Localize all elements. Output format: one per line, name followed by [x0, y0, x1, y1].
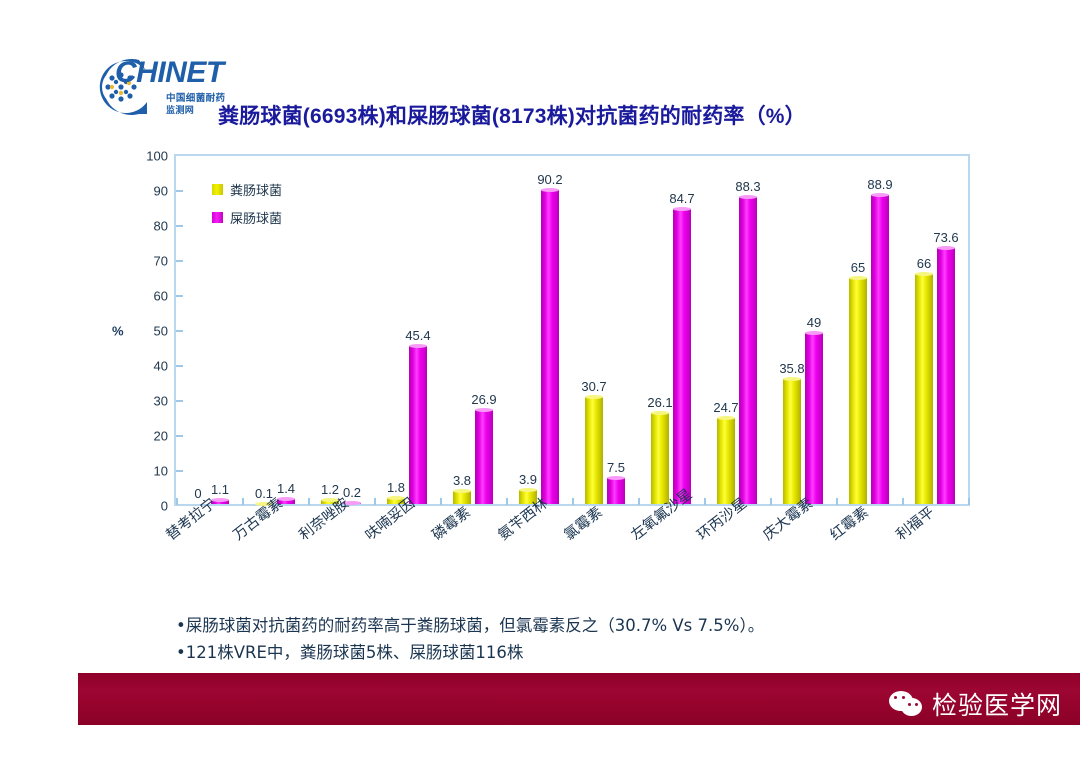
logo-cn-line1: 中国细菌耐药 — [166, 90, 225, 104]
watermark-text: 检验医学网 — [932, 686, 1062, 722]
y-tick-label: 20 — [122, 429, 168, 444]
bar-value-label: 65 — [851, 260, 865, 275]
y-tick-mark — [176, 470, 183, 472]
logo-wordmark: CHINET — [115, 56, 224, 90]
bar-value-label: 73.6 — [933, 230, 958, 245]
x-tick-mark — [176, 498, 178, 505]
y-tick-label: 40 — [122, 359, 168, 374]
bar-value-label: 1.4 — [277, 481, 295, 496]
bar-group — [638, 156, 704, 504]
wechat-icon — [889, 691, 923, 717]
bar-value-label: 1.1 — [211, 482, 229, 497]
bar-value-label: 84.7 — [669, 191, 694, 206]
y-tick-label: 80 — [122, 219, 168, 234]
bar-group — [704, 156, 770, 504]
bar-value-label: 7.5 — [607, 460, 625, 475]
watermark: 检验医学网 — [889, 686, 1062, 722]
x-category-label: 红霉素 — [825, 501, 872, 544]
bar-value-label: 24.7 — [713, 400, 738, 415]
bar-value-label: 3.8 — [453, 473, 471, 488]
y-tick-label: 60 — [122, 289, 168, 304]
page-title: 粪肠球菌(6693株)和屎肠球菌(8173株)对抗菌药的耐药率（%） — [218, 100, 918, 130]
bar-group — [572, 156, 638, 504]
bar-value-label: 49 — [807, 315, 821, 330]
y-tick-mark — [176, 365, 183, 367]
y-tick-label: 90 — [122, 184, 168, 199]
x-tick-mark — [572, 498, 574, 505]
bar-value-label: 35.8 — [779, 361, 804, 376]
bar-value-label: 90.2 — [537, 172, 562, 187]
bar-粪肠球菌 — [783, 379, 801, 504]
bar-屎肠球菌 — [739, 197, 757, 504]
x-tick-mark — [968, 498, 970, 505]
bar-group — [506, 156, 572, 504]
y-tick-mark — [176, 225, 183, 227]
bar-屎肠球菌 — [607, 478, 625, 504]
bar-屎肠球菌 — [475, 410, 493, 504]
bar-屎肠球菌 — [673, 209, 691, 504]
y-tick-label: 50 — [122, 324, 168, 339]
logo-cn-line2: 监测网 — [166, 103, 194, 116]
bullet-2: •121株VRE中，粪肠球菌5株、屎肠球菌116株 — [176, 639, 956, 666]
x-tick-mark — [638, 498, 640, 505]
y-tick-label: 70 — [122, 254, 168, 269]
x-category-label: 磷霉素 — [427, 501, 474, 544]
bar-粪肠球菌 — [585, 397, 603, 504]
bullet-1: •屎肠球菌对抗菌药的耐药率高于粪肠球菌，但氯霉素反之（30.7% Vs 7.5%… — [176, 612, 956, 639]
bar-group — [770, 156, 836, 504]
bar-value-label: 0.2 — [343, 485, 361, 500]
x-tick-mark — [506, 498, 508, 505]
chinet-logo: CHINET 中国细菌耐药 监测网 — [95, 52, 227, 126]
plot-area: 粪肠球菌屎肠球菌 01.10.11.41.20.21.845.43.826.93… — [174, 156, 970, 506]
bar-屎肠球菌 — [871, 195, 889, 504]
x-tick-mark — [770, 498, 772, 505]
bar-value-label: 88.9 — [867, 177, 892, 192]
bar-屎肠球菌 — [541, 190, 559, 504]
bar-value-label: 30.7 — [581, 379, 606, 394]
bar-value-label: 45.4 — [405, 328, 430, 343]
bar-group — [902, 156, 968, 504]
y-tick-mark — [176, 260, 183, 262]
bar-value-label: 1.8 — [387, 480, 405, 495]
bar-粪肠球菌 — [651, 413, 669, 504]
bar-chart: % 0102030405060708090100 粪肠球菌屎肠球菌 01.10.… — [112, 150, 992, 520]
bar-value-label: 3.9 — [519, 472, 537, 487]
bar-粪肠球菌 — [915, 274, 933, 504]
y-tick-mark — [176, 435, 183, 437]
x-category-label: 氯霉素 — [559, 501, 606, 544]
bar-group — [836, 156, 902, 504]
x-tick-mark — [242, 498, 244, 505]
bar-屎肠球菌 — [805, 333, 823, 504]
x-tick-mark — [308, 498, 310, 505]
bar-group — [176, 156, 242, 504]
bar-group — [440, 156, 506, 504]
y-tick-mark — [176, 400, 183, 402]
bar-value-label: 88.3 — [735, 179, 760, 194]
bar-屎肠球菌 — [409, 346, 427, 504]
x-tick-mark — [902, 498, 904, 505]
bar-group — [242, 156, 308, 504]
y-tick-mark — [176, 190, 183, 192]
y-tick-label: 100 — [122, 149, 168, 164]
bar-value-label: 26.1 — [647, 395, 672, 410]
x-tick-mark — [704, 498, 706, 505]
bar-粪肠球菌 — [849, 278, 867, 504]
y-tick-mark — [176, 330, 183, 332]
x-tick-mark — [836, 498, 838, 505]
bar-value-label: 66 — [917, 256, 931, 271]
y-tick-label: 0 — [122, 499, 168, 514]
bar-value-label: 26.9 — [471, 392, 496, 407]
bar-屎肠球菌 — [937, 248, 955, 504]
bar-粪肠球菌 — [717, 418, 735, 504]
bar-group — [308, 156, 374, 504]
y-tick-label: 30 — [122, 394, 168, 409]
x-category-label: 利福平 — [891, 501, 938, 544]
y-tick-mark — [176, 295, 183, 297]
x-tick-mark — [440, 498, 442, 505]
y-tick-label: 10 — [122, 464, 168, 479]
summary-bullets: •屎肠球菌对抗菌药的耐药率高于粪肠球菌，但氯霉素反之（30.7% Vs 7.5%… — [176, 612, 956, 666]
x-tick-mark — [374, 498, 376, 505]
